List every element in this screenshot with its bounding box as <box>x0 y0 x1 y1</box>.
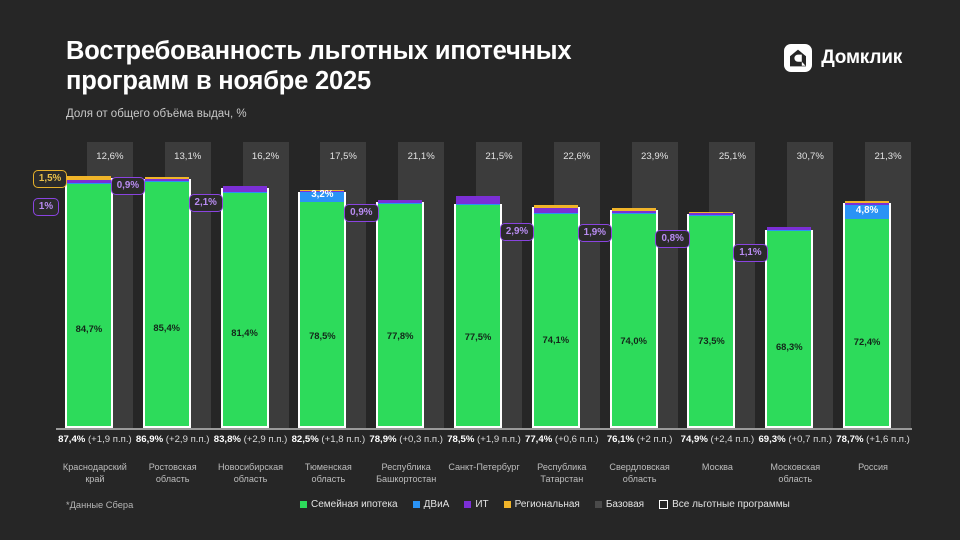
family-mortgage-segment[interactable]: 72,4% <box>845 219 889 426</box>
chart-page: Востребованность льготных ипотечных прог… <box>0 0 960 540</box>
dv-arctic-segment[interactable] <box>145 181 189 182</box>
legend-item[interactable]: Семейная ипотека <box>300 499 398 510</box>
regional-mortgage-segment[interactable] <box>67 176 111 180</box>
total-value-label: 74,9% (+2,4 п.п.) <box>679 434 757 445</box>
category-name-label: Ростовская область <box>134 462 212 485</box>
legend-swatch-icon <box>504 501 511 508</box>
total-value-label: 86,9% (+2,9 п.п.) <box>134 434 212 445</box>
category-name-label: Москва <box>679 462 757 474</box>
x-axis-category: 76,1% (+2 п.п.)Свердловская область <box>601 434 679 485</box>
family-mortgage-value-label: 73,5% <box>689 335 733 346</box>
segment-callout-label: 1,1% <box>733 244 767 262</box>
total-value-label: 77,4% (+0,6 п.п.) <box>523 434 601 445</box>
base-program-value-label: 21,5% <box>476 151 522 162</box>
segment-callout-label: 1,9% <box>578 224 612 242</box>
total-programs-bar[interactable]: 74,1% <box>532 207 580 428</box>
family-mortgage-value-label: 72,4% <box>845 336 889 347</box>
total-value-label: 78,5% (+1,9 п.п.) <box>445 434 523 445</box>
it-mortgage-segment[interactable] <box>456 196 500 204</box>
x-axis-category: 77,4% (+0,6 п.п.)Республика Татарстан <box>523 434 601 485</box>
category-name-label: Тюменская область <box>289 462 367 485</box>
total-programs-bar[interactable]: 68,3% <box>765 230 813 428</box>
chart-legend: Семейная ипотекаДВиАИТРегиональнаяБазова… <box>300 499 790 510</box>
base-program-value-label: 16,2% <box>243 151 289 162</box>
x-axis-line <box>56 428 912 430</box>
header: Востребованность льготных ипотечных прог… <box>66 36 766 120</box>
total-programs-bar[interactable]: 77,8% <box>376 202 424 428</box>
base-program-value-label: 21,3% <box>865 151 911 162</box>
legend-item[interactable]: Все льготные программы <box>659 499 790 510</box>
category-name-label: Новосибирская область <box>212 462 290 485</box>
family-mortgage-value-label: 77,5% <box>456 331 500 342</box>
it-mortgage-segment[interactable] <box>534 208 578 213</box>
base-program-value-label: 22,6% <box>554 151 600 162</box>
family-mortgage-segment[interactable]: 85,4% <box>145 182 189 426</box>
total-programs-bar[interactable]: 73,5% <box>687 214 735 428</box>
family-mortgage-value-label: 81,4% <box>223 327 267 338</box>
category-name-label: Республика Башкортостан <box>367 462 445 485</box>
house-icon <box>784 44 812 72</box>
total-value-label: 78,9% (+0,3 п.п.) <box>367 434 445 445</box>
dv-arctic-segment[interactable] <box>534 213 578 214</box>
family-mortgage-value-label: 74,0% <box>612 335 656 346</box>
bar-group[interactable]: 25,1%73,5%0,8% <box>687 140 765 428</box>
family-mortgage-value-label: 85,4% <box>145 322 189 333</box>
base-program-value-label: 30,7% <box>787 151 833 162</box>
total-programs-bar[interactable]: 85,4% <box>143 179 191 428</box>
it-mortgage-segment[interactable] <box>145 179 189 182</box>
base-program-value-label: 21,1% <box>398 151 444 162</box>
bar-group[interactable]: 22,6%74,1%2,9% <box>532 140 610 428</box>
legend-swatch-icon <box>300 501 307 508</box>
regional-mortgage-segment[interactable] <box>145 177 189 178</box>
total-value-label: 83,8% (+2,9 п.п.) <box>212 434 290 445</box>
category-name-label: Санкт-Петербург <box>445 462 523 474</box>
bar-group[interactable]: 21,5%77,5% <box>454 140 532 428</box>
regional-mortgage-segment[interactable] <box>612 208 656 210</box>
bar-group[interactable]: 21,3%72,4%4,8% <box>843 140 921 428</box>
segment-callout-label: 2,1% <box>189 194 223 212</box>
segment-inline-label: 3,2% <box>300 189 344 200</box>
footnote: *Данные Сбера <box>66 500 133 510</box>
it-mortgage-segment[interactable] <box>67 180 111 183</box>
bar-group[interactable]: 16,2%81,4%2,1% <box>221 140 299 428</box>
family-mortgage-value-label: 78,5% <box>300 330 344 341</box>
base-program-value-label: 12,6% <box>87 151 133 162</box>
category-name-label: Краснодарский край <box>56 462 134 485</box>
x-axis-labels: 87,4% (+1,9 п.п.)Краснодарский край86,9%… <box>56 434 912 494</box>
bar-group[interactable]: 23,9%74,0%1,9% <box>610 140 688 428</box>
family-mortgage-segment[interactable]: 73,5% <box>689 216 733 426</box>
family-mortgage-value-label: 68,3% <box>767 341 811 352</box>
x-axis-category: 82,5% (+1,8 п.п.)Тюменская область <box>289 434 367 485</box>
category-name-label: Московская область <box>756 462 834 485</box>
x-axis-category: 83,8% (+2,9 п.п.)Новосибирская область <box>212 434 290 485</box>
total-programs-bar[interactable]: 74,0% <box>610 210 658 428</box>
it-mortgage-segment[interactable] <box>767 227 811 230</box>
legend-swatch-icon <box>659 500 668 509</box>
dv-arctic-segment[interactable] <box>223 192 267 193</box>
page-subtitle: Доля от общего объёма выдач, % <box>66 108 766 120</box>
dv-arctic-segment[interactable] <box>612 213 656 214</box>
total-programs-bar[interactable]: 78,5%3,2% <box>298 192 346 428</box>
legend-swatch-icon <box>595 501 602 508</box>
family-mortgage-segment[interactable]: 77,5% <box>456 204 500 426</box>
total-value-label: 69,3% (+0,7 п.п.) <box>756 434 834 445</box>
regional-mortgage-segment[interactable] <box>689 212 733 213</box>
segment-callout-label: 0,8% <box>655 230 689 248</box>
legend-item[interactable]: ИТ <box>464 499 488 510</box>
category-name-label: Россия <box>834 462 912 474</box>
segment-callout-label: 1,5% <box>33 170 67 188</box>
bar-group[interactable]: 17,5%78,5%3,2% <box>298 140 376 428</box>
total-programs-bar[interactable]: 81,4% <box>221 188 269 428</box>
x-axis-category: 69,3% (+0,7 п.п.)Московская область <box>756 434 834 485</box>
legend-label: ИТ <box>475 499 488 510</box>
legend-swatch-icon <box>464 501 471 508</box>
brand-logo: Домклик <box>784 44 902 72</box>
family-mortgage-value-label: 77,8% <box>378 330 422 341</box>
bar-group[interactable]: 21,1%77,8%0,9% <box>376 140 454 428</box>
family-mortgage-value-label: 84,7% <box>67 323 111 334</box>
legend-label: Семейная ипотека <box>311 499 398 510</box>
legend-label: Базовая <box>606 499 644 510</box>
it-mortgage-segment[interactable] <box>612 211 656 213</box>
base-program-value-label: 13,1% <box>165 151 211 162</box>
base-program-value-label: 23,9% <box>632 151 678 162</box>
segment-callout-label: 1% <box>33 198 59 216</box>
base-program-value-label: 25,1% <box>709 151 755 162</box>
category-name-label: Республика Татарстан <box>523 462 601 485</box>
regional-mortgage-segment[interactable] <box>534 205 578 208</box>
family-mortgage-value-label: 74,1% <box>534 334 578 345</box>
total-value-label: 78,7% (+1,6 п.п.) <box>834 434 912 445</box>
regional-mortgage-segment[interactable] <box>845 201 889 203</box>
legend-item[interactable]: ДВиА <box>413 499 450 510</box>
it-mortgage-segment[interactable] <box>223 186 267 192</box>
dv-arctic-segment[interactable] <box>67 183 111 184</box>
total-programs-bar[interactable]: 72,4%4,8% <box>843 203 891 428</box>
x-axis-category: 86,9% (+2,9 п.п.)Ростовская область <box>134 434 212 485</box>
family-mortgage-segment[interactable]: 81,4% <box>223 193 267 426</box>
family-mortgage-segment[interactable]: 77,8% <box>378 204 422 427</box>
x-axis-category: 74,9% (+2,4 п.п.)Москва <box>679 434 757 474</box>
it-mortgage-segment[interactable] <box>689 213 733 215</box>
chart-plot-area: 12,6%84,7%1,5%1%13,1%85,4%0,9%16,2%81,4%… <box>56 140 912 428</box>
base-program-value-label: 17,5% <box>320 151 366 162</box>
dv-arctic-segment[interactable] <box>767 230 811 231</box>
total-programs-bar[interactable]: 77,5% <box>454 204 502 429</box>
segment-callout-label: 2,9% <box>500 223 534 241</box>
category-name-label: Свердловская область <box>601 462 679 485</box>
family-mortgage-segment[interactable]: 84,7% <box>67 184 111 426</box>
dv-arctic-segment[interactable] <box>689 215 733 216</box>
segment-inline-label: 4,8% <box>845 205 889 216</box>
total-value-label: 87,4% (+1,9 п.п.) <box>56 434 134 445</box>
bar-group[interactable]: 13,1%85,4%0,9% <box>143 140 221 428</box>
x-axis-category: 78,5% (+1,9 п.п.)Санкт-Петербург <box>445 434 523 474</box>
x-axis-category: 87,4% (+1,9 п.п.)Краснодарский край <box>56 434 134 485</box>
legend-label: Все льготные программы <box>672 499 790 510</box>
legend-swatch-icon <box>413 501 420 508</box>
it-mortgage-segment[interactable] <box>378 200 422 203</box>
total-value-label: 82,5% (+1,8 п.п.) <box>289 434 367 445</box>
legend-label: Региональная <box>515 499 580 510</box>
family-mortgage-segment[interactable]: 74,0% <box>612 214 656 426</box>
legend-label: ДВиА <box>424 499 450 510</box>
family-mortgage-segment[interactable]: 78,5% <box>300 202 344 427</box>
logo-text: Домклик <box>821 47 902 69</box>
segment-callout-label: 0,9% <box>111 177 145 195</box>
bar-group[interactable]: 30,7%68,3%1,1% <box>765 140 843 428</box>
page-title: Востребованность льготных ипотечных прог… <box>66 36 766 96</box>
legend-item[interactable]: Региональная <box>504 499 580 510</box>
legend-item[interactable]: Базовая <box>595 499 644 510</box>
family-mortgage-segment[interactable]: 74,1% <box>534 214 578 426</box>
family-mortgage-segment[interactable]: 68,3% <box>767 231 811 426</box>
segment-callout-label: 0,9% <box>344 204 378 222</box>
x-axis-category: 78,7% (+1,6 п.п.)Россия <box>834 434 912 474</box>
total-value-label: 76,1% (+2 п.п.) <box>601 434 679 445</box>
x-axis-category: 78,9% (+0,3 п.п.)Республика Башкортостан <box>367 434 445 485</box>
total-programs-bar[interactable]: 84,7% <box>65 178 113 428</box>
dv-arctic-segment[interactable] <box>378 203 422 204</box>
